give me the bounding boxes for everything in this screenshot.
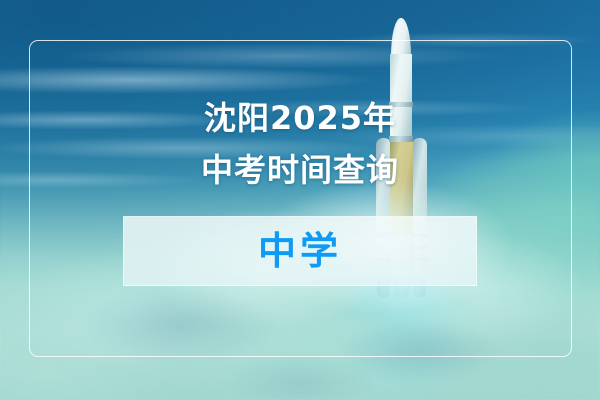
- banner-title-line-1: 沈阳2025年: [0, 92, 600, 144]
- rocket-nose-cone-icon: [391, 18, 411, 58]
- banner-title-line-2: 中考时间查询: [0, 144, 600, 196]
- promo-banner: 沈阳2025年 中考时间查询 中学: [0, 0, 600, 400]
- banner-title: 沈阳2025年 中考时间查询: [0, 92, 600, 196]
- category-badge-bar[interactable]: 中学: [123, 216, 477, 286]
- category-badge-label: 中学: [258, 232, 342, 270]
